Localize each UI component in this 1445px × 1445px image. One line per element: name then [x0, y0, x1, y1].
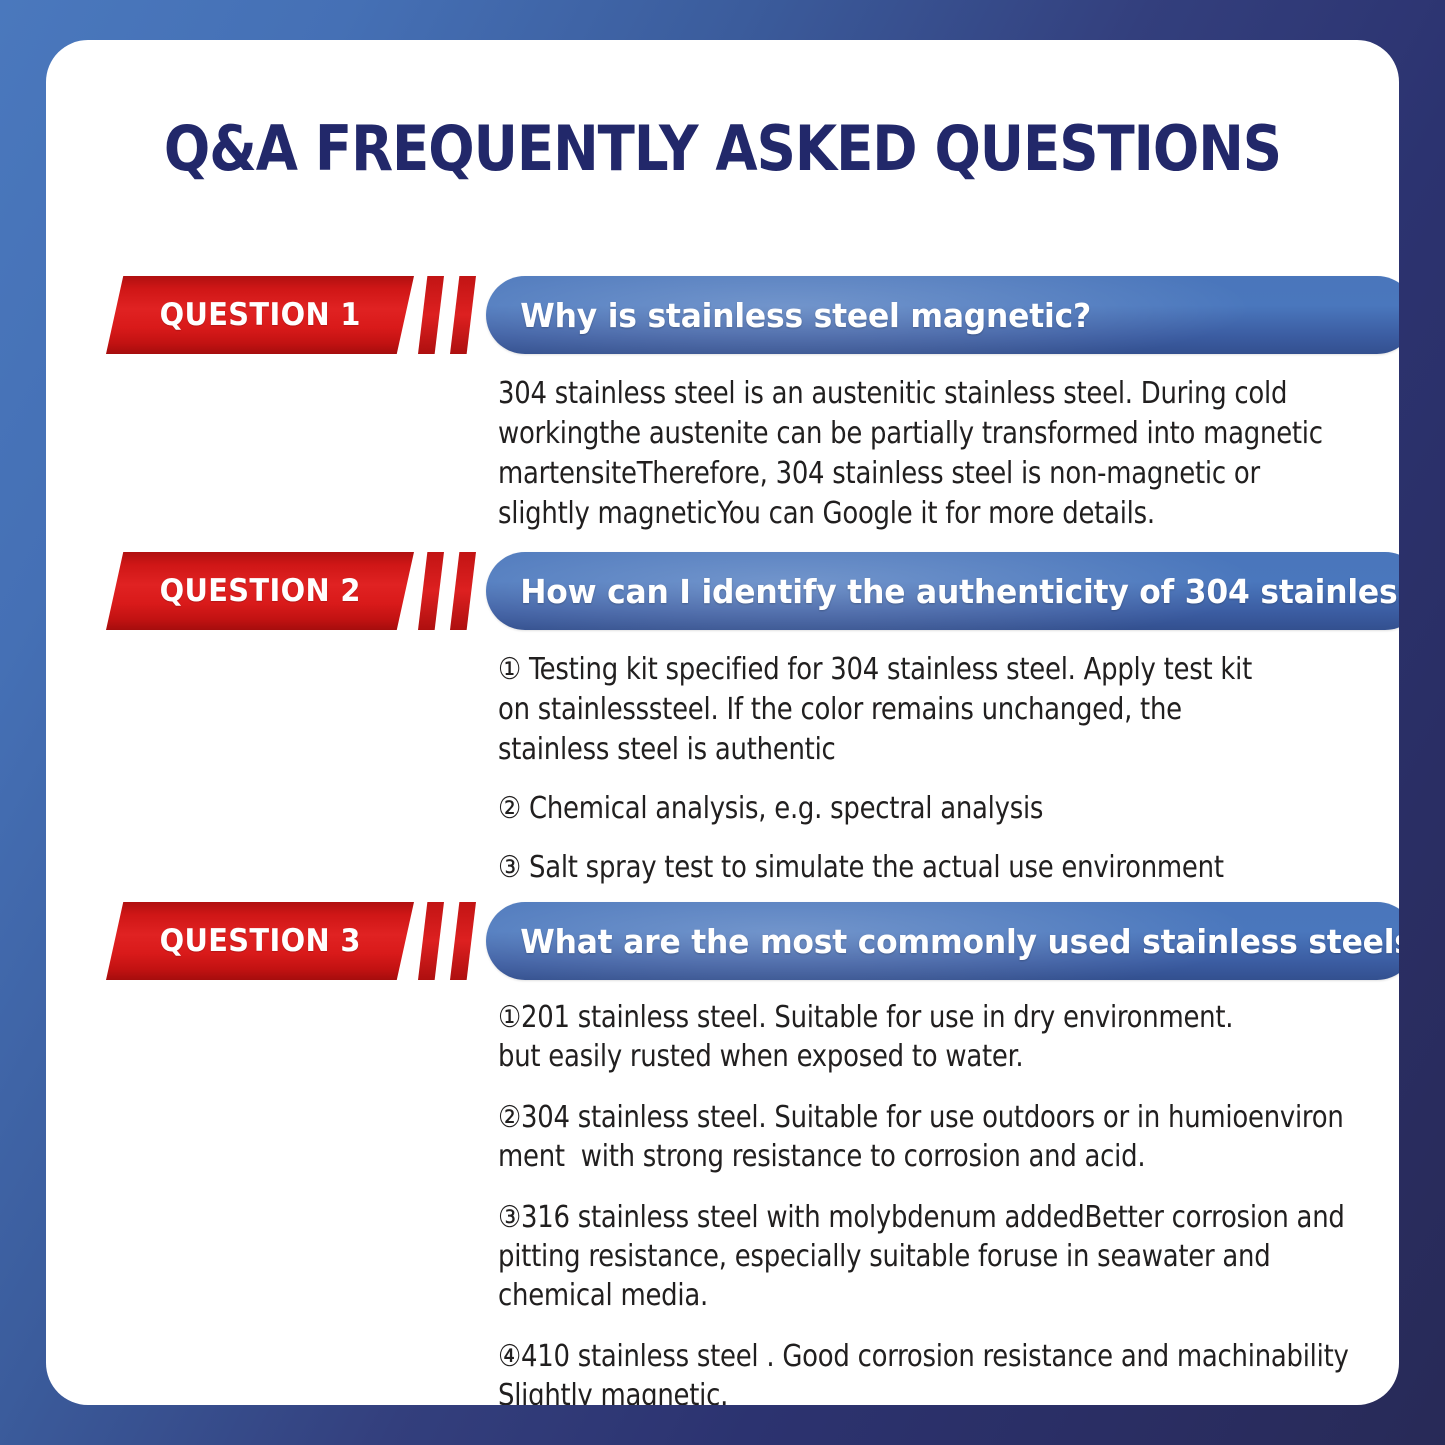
answer-paragraph: ② Chemical analysis, e.g. spectral analy… — [498, 789, 1266, 829]
question-tag-1[interactable]: QUESTION 1 — [106, 276, 414, 354]
question-text: How can I identify the authenticity of 3… — [486, 572, 1399, 611]
slash-divider-icon — [450, 276, 476, 354]
answer-paragraph: ① Testing kit specified for 304 stainles… — [498, 650, 1266, 770]
question-tag-2[interactable]: QUESTION 2 — [106, 552, 414, 630]
slash-divider-icon — [450, 552, 476, 630]
answer-paragraph: ③316 stainless steel with molybdenum add… — [498, 1198, 1362, 1315]
question-text: Why is stainless steel magnetic? — [486, 296, 1118, 335]
question-pill-2[interactable]: How can I identify the authenticity of 3… — [486, 552, 1399, 630]
question-tag-label: QUESTION 3 — [159, 923, 360, 959]
faq-banner-1: QUESTION 1 Why is stainless steel magnet… — [46, 276, 1399, 354]
slash-divider-icon — [418, 552, 444, 630]
slash-divider-icon — [450, 902, 476, 980]
answer-area-1: 304 stainless steel is an austenitic sta… — [498, 374, 1378, 534]
answer-paragraph: ③ Salt spray test to simulate the actual… — [498, 848, 1266, 888]
page-title: Q&A FREQUENTLY ASKED QUESTIONS — [127, 112, 1318, 185]
question-tag-3[interactable]: QUESTION 3 — [106, 902, 414, 980]
faq-block-2: QUESTION 2 How can I identify the authen… — [46, 552, 1399, 630]
faq-banner-2: QUESTION 2 How can I identify the authen… — [46, 552, 1399, 630]
question-text: What are the most commonly used stainles… — [486, 922, 1399, 961]
question-tag-label: QUESTION 1 — [159, 297, 360, 333]
faq-block-1: QUESTION 1 Why is stainless steel magnet… — [46, 276, 1399, 354]
question-pill-1[interactable]: Why is stainless steel magnetic? — [486, 276, 1399, 354]
question-tag-label: QUESTION 2 — [159, 573, 360, 609]
answer-paragraph: ②304 stainless steel. Suitable for use o… — [498, 1098, 1362, 1176]
faq-card: Q&A FREQUENTLY ASKED QUESTIONS QUESTION … — [46, 40, 1399, 1405]
slash-divider-icon — [418, 276, 444, 354]
question-pill-3[interactable]: What are the most commonly used stainles… — [486, 902, 1399, 980]
faq-block-3: QUESTION 3 What are the most commonly us… — [46, 902, 1399, 980]
answer-area-2: ① Testing kit specified for 304 stainles… — [498, 650, 1298, 887]
faq-banner-3: QUESTION 3 What are the most commonly us… — [46, 902, 1399, 980]
answer-area-3: ①201 stainless steel. Suitable for use i… — [498, 998, 1398, 1405]
slash-divider-icon — [418, 902, 444, 980]
answer-paragraph: ①201 stainless steel. Suitable for use i… — [498, 998, 1362, 1076]
answer-paragraph: ④410 stainless steel . Good corrosion re… — [498, 1337, 1362, 1405]
answer-paragraph: 304 stainless steel is an austenitic sta… — [498, 374, 1343, 534]
